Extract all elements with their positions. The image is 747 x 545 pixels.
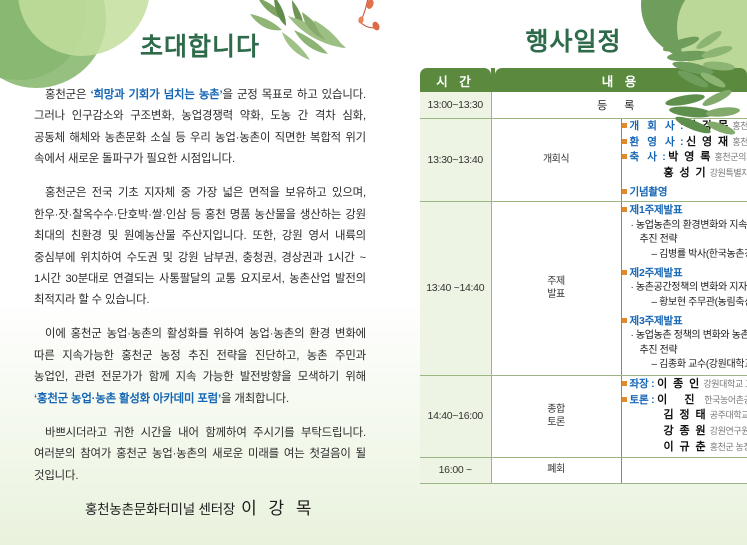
- table-row: 13:00~13:30 등 록: [420, 92, 747, 119]
- row-content: 등 록: [491, 92, 747, 119]
- item-separator: :: [677, 120, 686, 132]
- topic-speaker: – 황보현 주무관(농림축산식품부): [622, 296, 747, 311]
- row-content: 좌장 : 이 종 인 강원대학교 교수 토론 : 이 진 한국농어촌공사 지역개…: [621, 375, 747, 457]
- category-line-2: 발표: [492, 288, 621, 302]
- list-item: 김 정 태 공주대학교 교수: [622, 408, 747, 424]
- list-item: 이 규 춘 홍천군 농정과장: [622, 440, 747, 456]
- square-bullet-icon: [622, 123, 627, 128]
- speaker-name: 신 영 재: [686, 136, 729, 148]
- item-label: 개 회 사: [630, 120, 678, 132]
- topic-title: 제3주제발표: [630, 315, 683, 327]
- item-label: 토론: [630, 394, 649, 406]
- paragraph-2-text: 홍천군은 전국 기초 지자체 중 가장 넓은 면적을 보유하고 있으며, 한우·…: [34, 187, 366, 306]
- schedule-panel: 행사일정 시 간: [400, 0, 747, 545]
- speaker-affiliation: 홍천군수: [732, 137, 747, 147]
- category-line-1: 종합: [492, 403, 621, 417]
- paragraph-4-text: 바쁘시더라고 귀한 시간을 내어 함께하여 주시기를 부탁드립니다. 여러분의 …: [34, 427, 366, 482]
- list-item: 좌장 : 이 종 인 강원대학교 교수: [622, 377, 747, 393]
- speaker-affiliation: 홍천군의회 의장: [715, 152, 747, 162]
- speaker-name: 강 종 원: [664, 425, 707, 437]
- schedule-table: 시 간 내 용 13:00~13:30 등 록 13:30~13:40 개회식: [420, 68, 747, 484]
- topic-speaker: – 김병률 박사(한국농촌경제연구원): [622, 248, 747, 263]
- topic-title: 제1주제발표: [630, 204, 683, 216]
- category-line-2: 토론: [492, 416, 621, 430]
- row-category: 주제 발표: [491, 201, 621, 375]
- speaker-affiliation: 홍천군 농정과장: [710, 442, 747, 452]
- topic-speaker: – 김종화 교수(강원대학교): [622, 358, 747, 373]
- topic-line: 추진 전략: [622, 344, 747, 359]
- speaker-affiliation: 공주대학교 교수: [710, 410, 747, 420]
- square-bullet-icon: [622, 381, 627, 386]
- item-label: 축 사: [630, 151, 660, 163]
- header-cell-content: 내 용: [495, 68, 747, 92]
- square-bullet-icon: [622, 270, 627, 275]
- item-label: 좌장: [630, 378, 649, 390]
- topic-heading: 제3주제발표: [622, 314, 747, 329]
- category-line-1: 주제: [492, 275, 621, 289]
- speaker-name: 홍 성 기: [664, 167, 707, 179]
- row-time: 16:00 ~: [420, 457, 491, 483]
- signature-block: 홍천농촌문화터미널 센터장이 강 목: [0, 494, 400, 519]
- table-row: 13:30~13:40 개회식 개 회 사 : 이 강 목 홍천농촌문화터미널 …: [420, 119, 747, 202]
- paragraph-3-part-1: 이에 홍천군 농업·농촌의 활성화를 위하여 농업·농촌의 환경 변화에 따른 …: [34, 328, 366, 383]
- schedule-table-wrapper: 시 간 내 용 13:00~13:30 등 록 13:30~13:40 개회식: [420, 68, 747, 484]
- invitation-paragraph-4: 바쁘시더라고 귀한 시간을 내어 함께하여 주시기를 부탁드립니다. 여러분의 …: [34, 423, 366, 487]
- list-item: 홍 성 기 강원특별자치도 의원: [622, 166, 747, 182]
- paragraph-3-forum-name-highlight: ‘홍천군 농업·농촌 활성화 아카데미 포럼’: [34, 393, 221, 405]
- square-bullet-icon: [622, 397, 627, 402]
- topic-line: · 농촌공간정책의 변화와 지자체의 대응방안: [622, 281, 747, 296]
- item-label: 기념촬영: [630, 186, 668, 198]
- speaker-affiliation: 강원대학교 교수: [703, 379, 747, 389]
- invitation-body: 홍천군은 ‘희망과 기회가 넘치는 농촌’을 군정 목표로 하고 있습니다. 그…: [34, 85, 366, 487]
- invitation-paragraph-3: 이에 홍천군 농업·농촌의 활성화를 위하여 농업·농촌의 환경 변화에 따른 …: [34, 324, 366, 410]
- schedule-header-row: 시 간 내 용: [420, 68, 747, 92]
- row-content: [621, 457, 747, 483]
- item-separator: :: [648, 378, 657, 390]
- header-cell-time: 시 간: [420, 68, 491, 92]
- invitation-title: 초대합니다: [34, 27, 366, 63]
- topic-line: 추진 전략: [622, 233, 747, 248]
- row-time: 14:40~16:00: [420, 375, 491, 457]
- item-separator: :: [648, 394, 657, 406]
- schedule-table-body: 13:00~13:30 등 록 13:30~13:40 개회식 개 회 사 : …: [420, 92, 747, 483]
- invitation-paragraph-2: 홍천군은 전국 기초 지자체 중 가장 넓은 면적을 보유하고 있으며, 한우·…: [34, 183, 366, 312]
- square-bullet-icon: [622, 189, 627, 194]
- row-category: 폐회: [491, 457, 621, 483]
- row-content: 개 회 사 : 이 강 목 홍천농촌문화터미널 센터장 환 영 사 : 신 영 …: [621, 119, 747, 202]
- square-bullet-icon: [622, 318, 627, 323]
- signature-organization: 홍천농촌문화터미널 센터장: [85, 502, 235, 517]
- list-item: 개 회 사 : 이 강 목 홍천농촌문화터미널 센터장: [622, 119, 747, 135]
- topic-title: 제2주제발표: [630, 267, 683, 279]
- row-time: 13:00~13:30: [420, 92, 491, 119]
- speaker-name: 이 종 인: [657, 378, 700, 390]
- row-content: 제1주제발표 · 농업농촌의 환경변화와 지속가능한 농정 추진 전략 – 김병…: [621, 201, 747, 375]
- list-item: 토론 : 이 진 한국농어촌공사 지역개발지원단장: [622, 393, 747, 409]
- row-category: 개회식: [491, 119, 621, 202]
- list-item: 기념촬영: [622, 185, 747, 200]
- row-time: 13:30~13:40: [420, 119, 491, 202]
- paragraph-1-highlight: ‘희망과 기회가 넘치는 농촌’: [90, 89, 222, 101]
- square-bullet-icon: [622, 207, 627, 212]
- speaker-affiliation: 홍천농촌문화터미널 센터장: [732, 121, 747, 131]
- topic-heading: 제1주제발표: [622, 203, 747, 218]
- row-category: 종합 토론: [491, 375, 621, 457]
- list-item: 환 영 사 : 신 영 재 홍천군수: [622, 135, 747, 151]
- schedule-title: 행사일정: [400, 22, 747, 58]
- list-item: 축 사 : 박 영 록 홍천군의회 의장: [622, 150, 747, 166]
- speaker-name: 박 영 록: [668, 151, 711, 163]
- table-row: 16:00 ~ 폐회: [420, 457, 747, 483]
- item-separator: :: [660, 151, 669, 163]
- invitation-panel: 초대합니다 홍천군은 ‘희망과 기회가 넘치는 농촌’을 군정 목표로 하고 있…: [0, 0, 400, 545]
- item-separator: :: [677, 136, 686, 148]
- speaker-name: 이 강 목: [686, 120, 729, 132]
- row-time: 13:40 ~14:40: [420, 201, 491, 375]
- speaker-affiliation: 강원연구원 연구위원: [710, 426, 747, 436]
- table-row: 14:40~16:00 종합 토론 좌장 : 이 종 인 강원대학교 교수 토론…: [420, 375, 747, 457]
- speaker-name: 이 규 춘: [664, 441, 707, 453]
- list-item: 강 종 원 강원연구원 연구위원: [622, 424, 747, 440]
- item-label: 환 영 사: [630, 136, 678, 148]
- speaker-name: 이 진: [657, 394, 701, 406]
- speaker-affiliation: 강원특별자치도 의원: [710, 168, 747, 178]
- schedule-table-head: 시 간 내 용: [420, 68, 747, 92]
- invitation-paragraph-1: 홍천군은 ‘희망과 기회가 넘치는 농촌’을 군정 목표로 하고 있습니다. 그…: [34, 85, 366, 171]
- table-row: 13:40 ~14:40 주제 발표 제1주제발표 · 농업농촌의 환경변화와 …: [420, 201, 747, 375]
- square-bullet-icon: [622, 154, 627, 159]
- signature-name: 이 강 목: [241, 499, 315, 518]
- speaker-name: 김 정 태: [664, 409, 707, 421]
- topic-line: · 농업농촌의 환경변화와 지속가능한 농정: [622, 219, 747, 234]
- paragraph-3-part-3: 을 개최합니다.: [221, 393, 289, 405]
- speaker-affiliation: 한국농어촌공사 지역개발지원단장: [704, 395, 747, 405]
- registration-label: 등 록: [597, 100, 641, 112]
- topic-heading: 제2주제발표: [622, 266, 747, 281]
- paragraph-1-part-1: 홍천군은: [45, 89, 90, 101]
- topic-line: · 농업농촌 정책의 변화와 농촌지역개발: [622, 329, 747, 344]
- square-bullet-icon: [622, 139, 627, 144]
